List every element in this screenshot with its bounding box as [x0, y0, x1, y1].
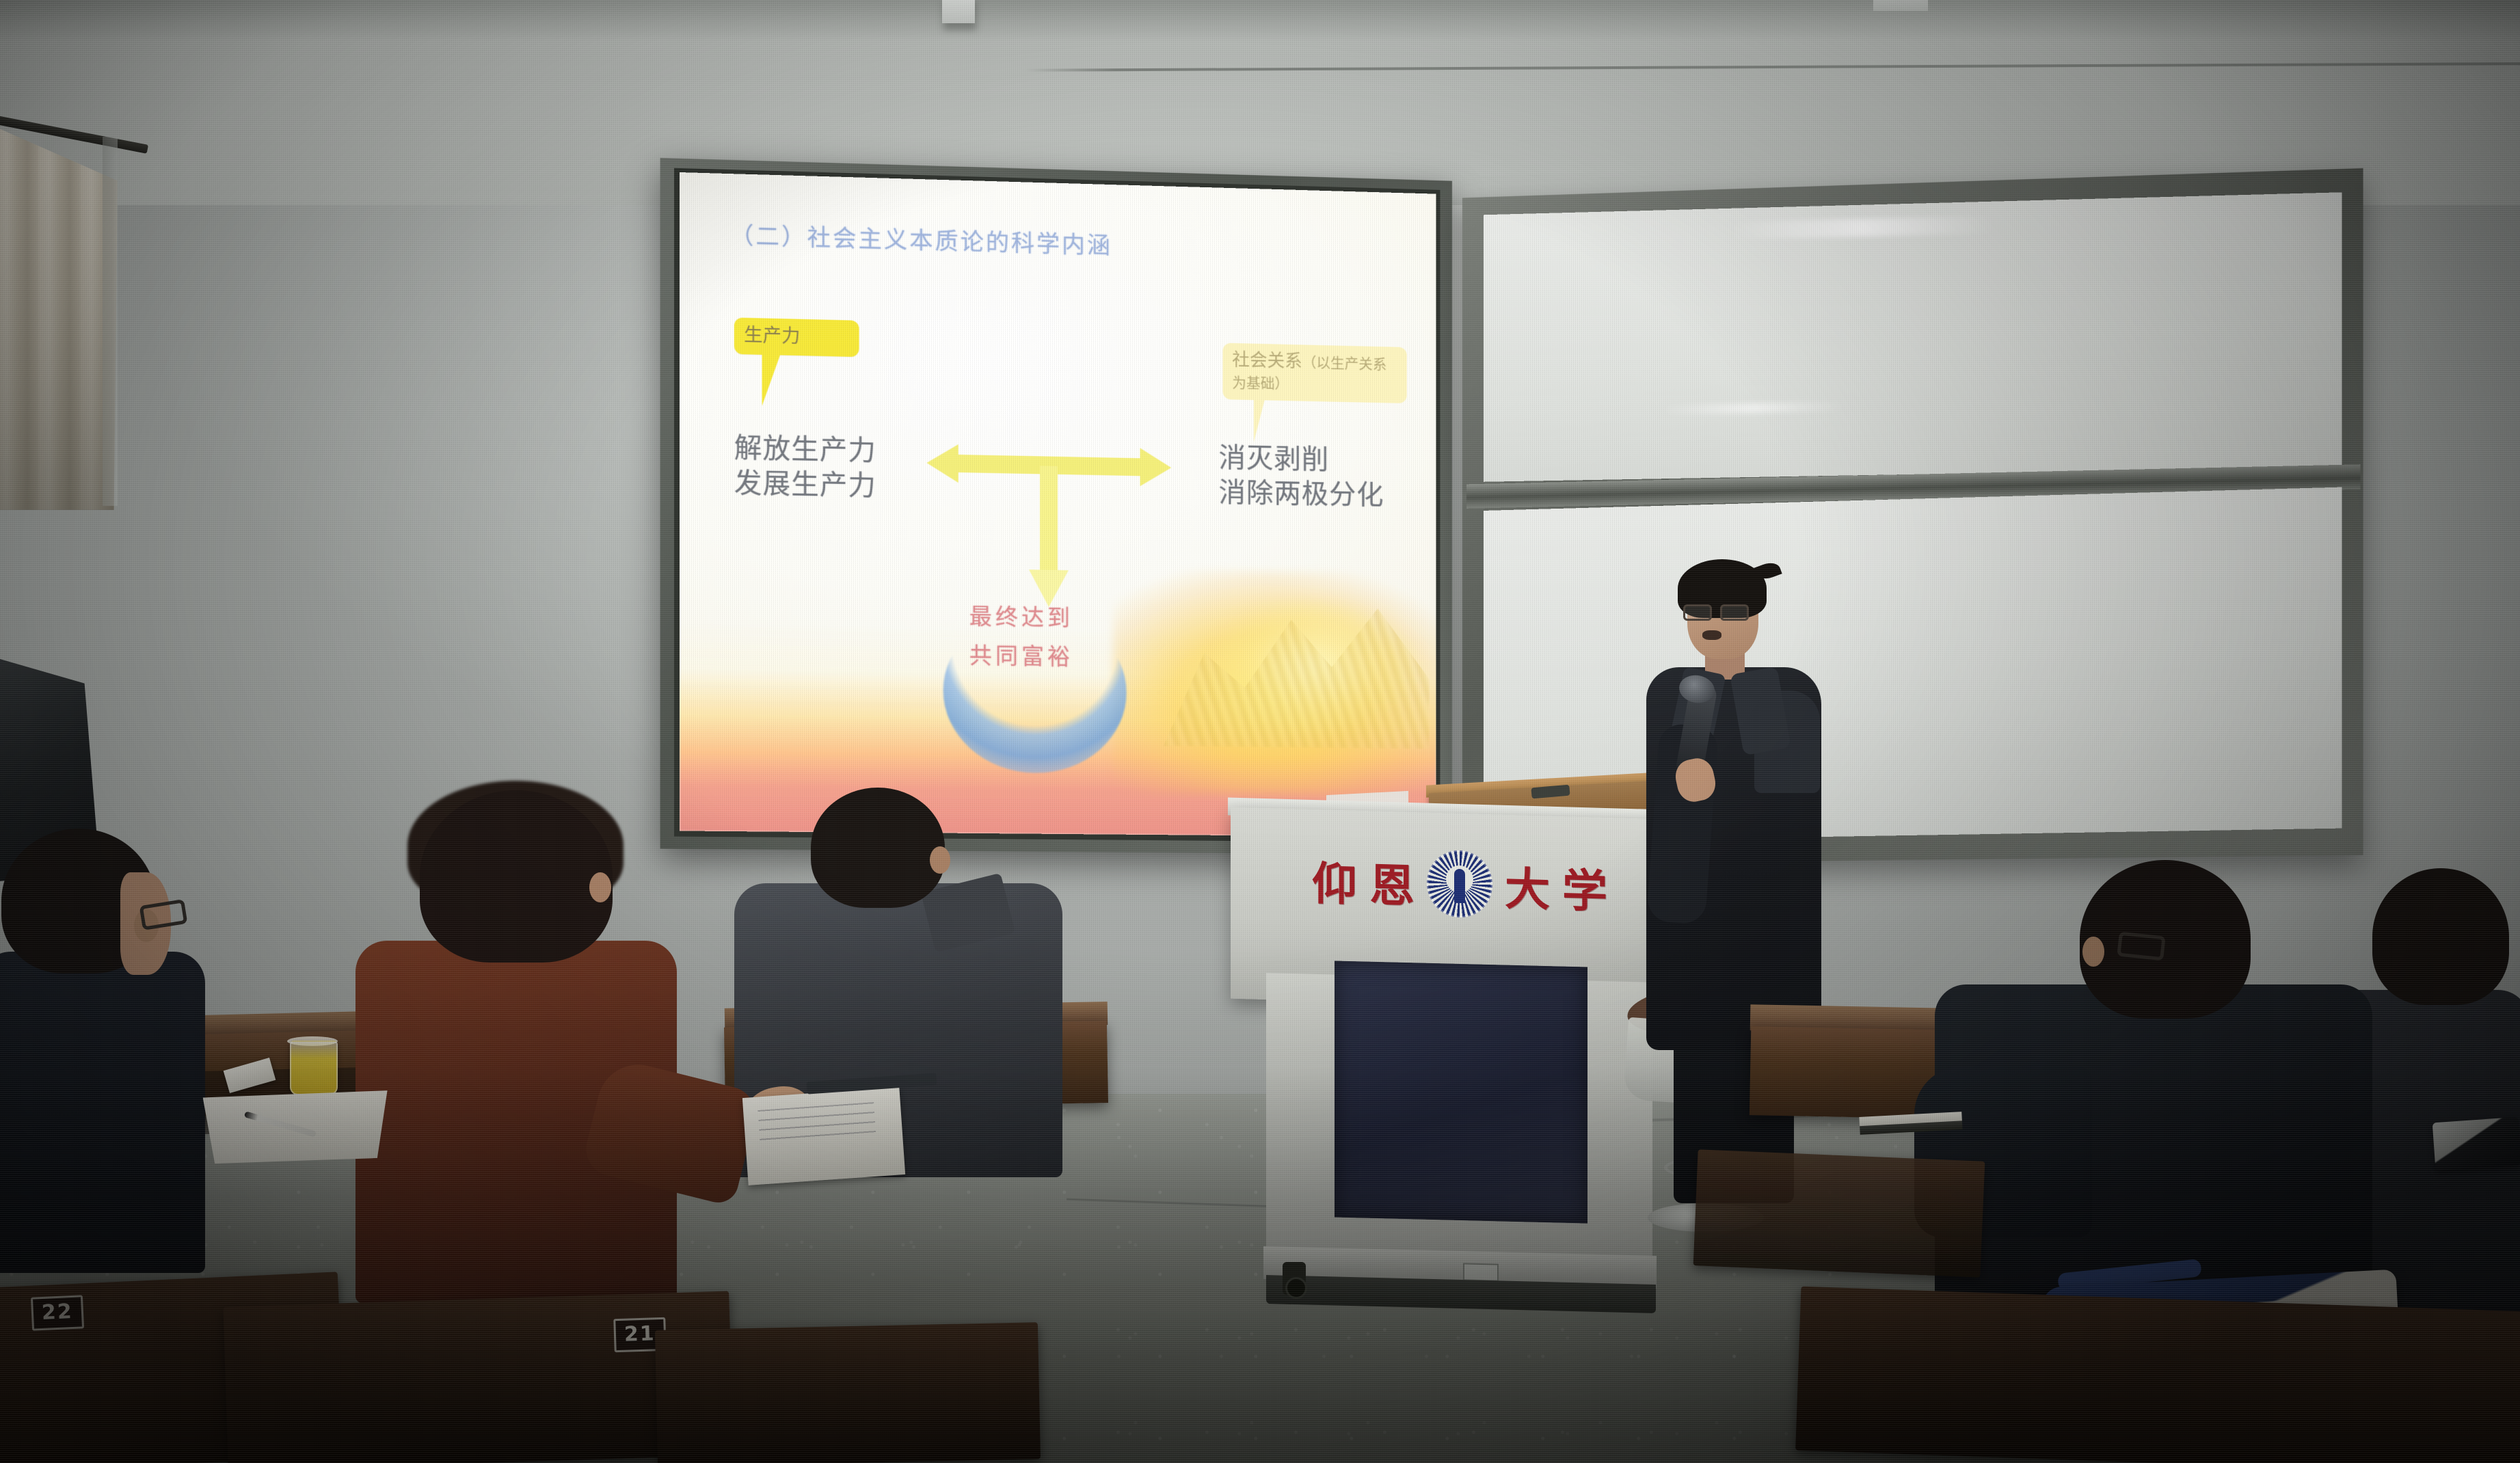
slide-body-left: 解放生产力 发展生产力: [734, 431, 876, 504]
bench-back-front-center: [655, 1322, 1041, 1463]
podium-char-4: 学: [1562, 854, 1607, 921]
tea-cup[interactable]: [290, 1041, 338, 1095]
callout-right-tail: [1254, 401, 1285, 444]
presenter-mouth: [1702, 630, 1721, 640]
presentation-slide: （二）社会主义本质论的科学内涵 生产力 社会关系（以生产关系为基础） 解放生产力…: [680, 172, 1436, 837]
bench-back-mid-right: [1693, 1149, 1985, 1277]
window-jamb: [103, 137, 118, 506]
podium-char-3: 大: [1505, 853, 1550, 920]
ceiling-shadow: [0, 0, 2520, 41]
projection-screen: （二）社会主义本质论的科学内涵 生产力 社会关系（以生产关系为基础） 解放生产力…: [680, 172, 1436, 837]
slide-body-right-line2: 消除两极分化: [1219, 476, 1384, 513]
attendee-front-right-glasses-icon: [2117, 932, 2165, 961]
university-emblem-icon: [1427, 850, 1492, 919]
bench-back-right: [1795, 1287, 2520, 1463]
attendee-gray-suit-head: [811, 788, 945, 908]
ceiling-trim: [1873, 0, 1928, 11]
down-arrow-icon: [1040, 466, 1058, 570]
callout-left-tail: [762, 355, 790, 407]
classroom-scene: （二）社会主义本质论的科学内涵 生产力 社会关系（以生产关系为基础） 解放生产力…: [0, 0, 2520, 1463]
callout-right-label: 社会关系: [1232, 350, 1302, 372]
slide-body-right: 消灭剥削 消除两极分化: [1219, 441, 1384, 513]
podium-caster-wheel-icon: [1283, 1262, 1306, 1295]
tablet-device[interactable]: [2432, 1117, 2520, 1171]
presenter-glasses-icon: [1683, 604, 1749, 618]
whiteboard-upper-panel[interactable]: [1484, 192, 2342, 482]
attendee-gray-suit-ear: [930, 846, 950, 874]
slide-final-goal: 最终达到 共同富裕: [969, 598, 1073, 677]
slide-title: （二）社会主义本质论的科学内涵: [730, 217, 1112, 260]
attendee-rust-jacket-head: [420, 790, 613, 963]
attendee-front-right-head: [2080, 860, 2251, 1019]
attendee-front-right-ear: [2082, 937, 2104, 967]
ceiling-bracket-icon: [942, 0, 975, 23]
seat-number-22: 22: [31, 1295, 84, 1330]
slide-body-left-line2: 发展生产力: [734, 466, 876, 505]
slide-final-line1: 最终达到: [969, 598, 1073, 638]
slide-body-right-line1: 消灭剥削: [1219, 441, 1384, 479]
attendee-rust-jacket-ear: [589, 872, 611, 902]
callout-social-relations: 社会关系（以生产关系为基础）: [1222, 343, 1406, 404]
podium-university-logo: 仰 恩 大 学: [1278, 842, 1641, 927]
podium-front-panel: [1335, 961, 1587, 1223]
attendee-far-right-head: [2372, 868, 2509, 1005]
callout-productive-forces: 生产力: [734, 317, 859, 357]
podium-char-1: 仰: [1312, 847, 1357, 914]
attendee-front-left-body: [0, 952, 205, 1273]
podium-char-2: 恩: [1369, 848, 1415, 915]
callout-left-label: 生产力: [744, 325, 800, 347]
slide-body-left-line1: 解放生产力: [734, 431, 876, 469]
curtain-shading: [0, 127, 118, 510]
slide-final-line2: 共同富裕: [969, 636, 1073, 677]
podium-latch-icon: [1463, 1263, 1499, 1281]
